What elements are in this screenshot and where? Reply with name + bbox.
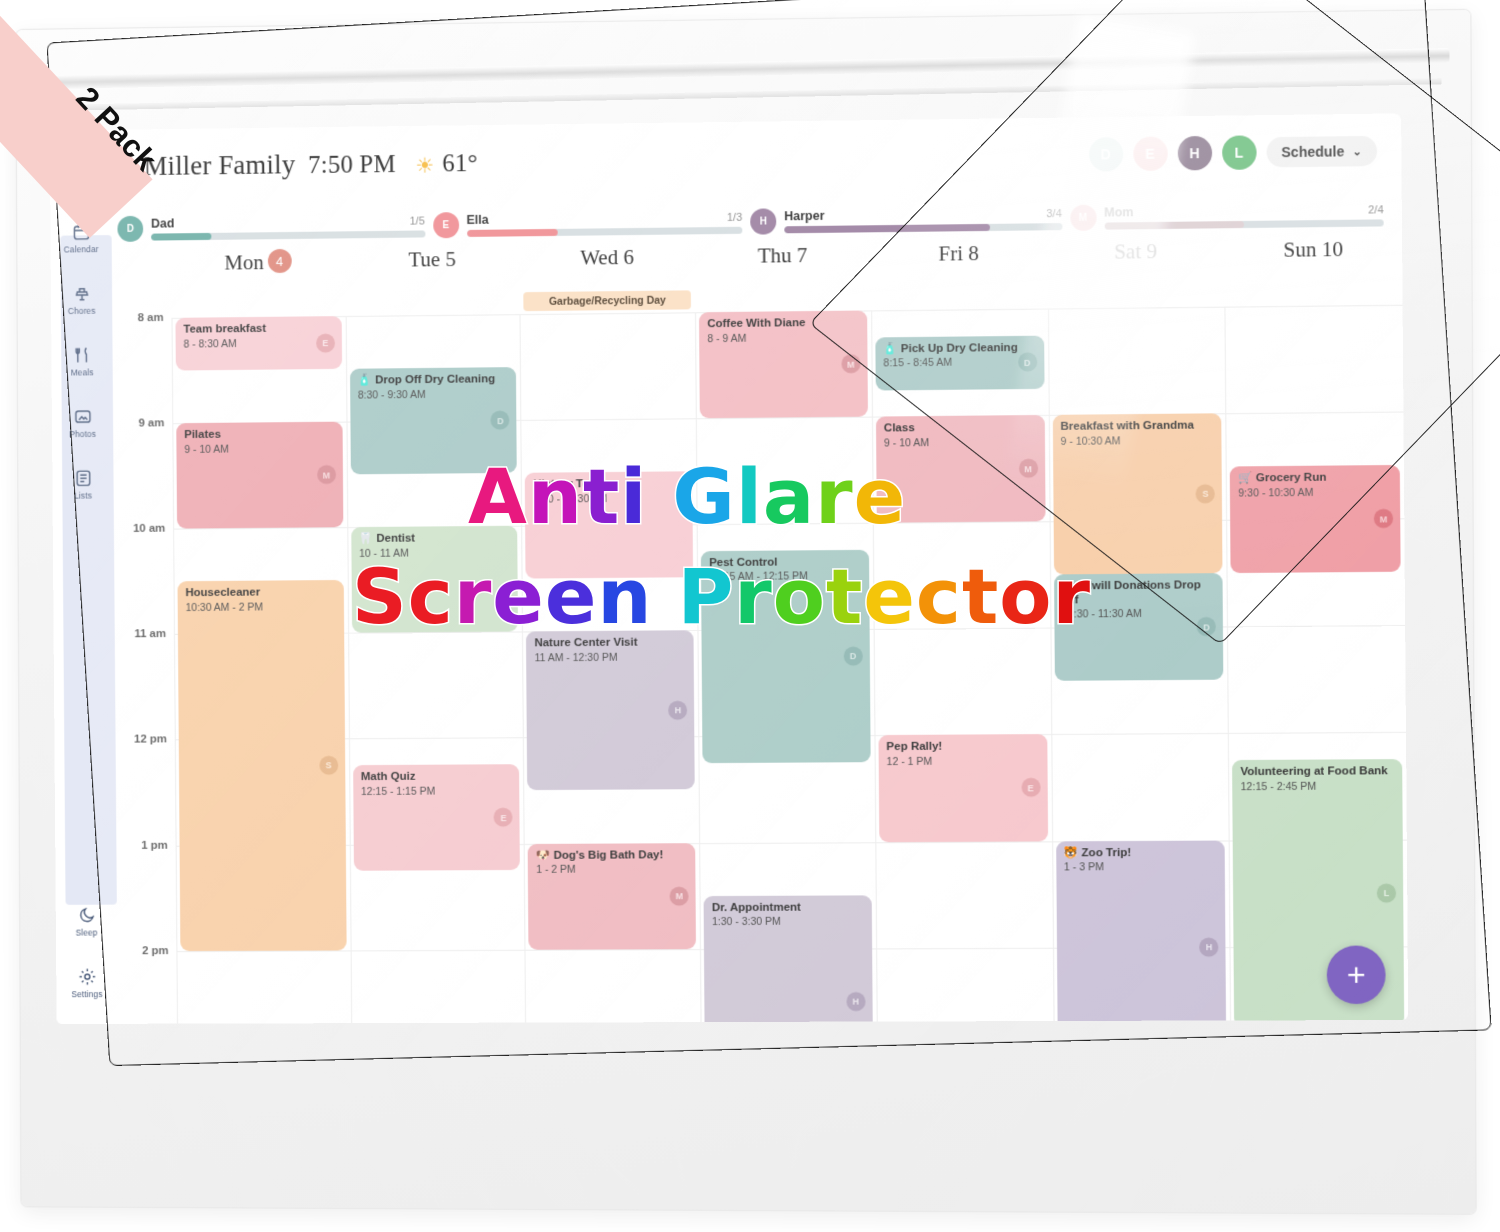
time-label: 12 pm bbox=[134, 734, 167, 746]
event-assignee-avatar: D bbox=[491, 411, 510, 430]
today-badge: 4 bbox=[268, 249, 292, 273]
calendar: Mon4Tue 5Wed 6Thu 7Fri 8Sat 9Sun 10 Garb… bbox=[112, 236, 1409, 1024]
sidebar-item-label: Lists bbox=[74, 491, 92, 501]
event-time: 9 - 10:30 AM bbox=[1061, 434, 1214, 447]
event-title: Volunteering at Food Bank bbox=[1240, 765, 1394, 780]
time-label: 11 am bbox=[134, 628, 166, 640]
event-title: 🐯 Zoo Trip! bbox=[1064, 846, 1217, 860]
sidebar: CalendarChoresMealsPhotosLists SleepSett… bbox=[50, 207, 117, 1024]
time-label: 9 am bbox=[138, 417, 164, 429]
clock: 7:50 PM bbox=[308, 151, 396, 179]
sidebar-item-meals[interactable]: Meals bbox=[51, 330, 113, 392]
page-title: Miller Family7:50 PM☀61° bbox=[144, 147, 478, 182]
day-column[interactable]: Coffee With Diane8 - 9 AMMPest Control10… bbox=[695, 310, 876, 1022]
time-label: 10 am bbox=[133, 523, 165, 535]
member-progress-track bbox=[1104, 219, 1384, 229]
event-time: 10:30 AM - 2 PM bbox=[186, 601, 336, 614]
calendar-event[interactable]: History Test9:30 - 10:30 AM bbox=[525, 471, 693, 578]
member-name: Ella bbox=[466, 213, 488, 227]
calendar-event[interactable]: 🦷 Dentist10 - 11 AM bbox=[351, 526, 518, 633]
chevron-down-icon: ⌄ bbox=[1352, 145, 1361, 158]
event-assignee-avatar: D bbox=[1197, 617, 1216, 636]
day-columns[interactable]: Team breakfast8 - 8:30 AMEPilates9 - 10 … bbox=[171, 305, 1408, 1024]
day-column[interactable]: 🧴 Pick Up Dry Cleaning8:15 - 8:45 AMDCla… bbox=[871, 309, 1053, 1022]
avatar-dad[interactable]: D bbox=[1088, 137, 1123, 172]
family-hub-app: Miller Family7:50 PM☀61° D E H L Schedul… bbox=[50, 113, 1409, 1024]
header-actions: D E H L Schedule ⌄ bbox=[1088, 134, 1377, 172]
member-avatar: H bbox=[750, 208, 776, 234]
schedule-label: Schedule bbox=[1281, 143, 1344, 160]
sidebar-item-chores[interactable]: Chores bbox=[51, 269, 113, 331]
member-progress[interactable]: HHarper3/4 bbox=[750, 205, 1070, 235]
all-day-cell bbox=[171, 292, 345, 318]
calendar-event[interactable]: Math Quiz12:15 - 1:15 PME bbox=[353, 764, 520, 871]
day-header-wed[interactable]: Wed 6 bbox=[519, 244, 695, 290]
day-header-sun[interactable]: Sun 10 bbox=[1224, 236, 1402, 282]
member-progress-track bbox=[467, 227, 743, 237]
event-time: 9 - 10 AM bbox=[184, 442, 334, 455]
event-title: Class bbox=[884, 421, 1037, 436]
event-title: Housecleaner bbox=[185, 586, 335, 601]
chores-icon bbox=[72, 284, 91, 303]
event-time: 10:30 - 11:30 AM bbox=[1062, 608, 1215, 621]
event-time: 8:15 - 8:45 AM bbox=[883, 356, 1036, 370]
day-column[interactable]: 🧴 Drop Off Dry Cleaning8:30 - 9:30 AMD🦷 … bbox=[345, 314, 525, 1023]
member-avatar: E bbox=[433, 212, 459, 238]
sidebar-item-label: Photos bbox=[69, 429, 96, 439]
event-title: Math Quiz bbox=[361, 770, 512, 784]
event-time: 8 - 9 AM bbox=[707, 331, 859, 345]
all-day-event[interactable]: Garbage/Recycling Day bbox=[524, 290, 691, 311]
all-day-cell bbox=[695, 286, 871, 312]
event-time: 9:30 - 10:30 AM bbox=[1238, 486, 1392, 499]
event-assignee-avatar: H bbox=[668, 701, 687, 720]
event-title: Dr. Appointment bbox=[712, 901, 864, 915]
day-column[interactable]: 🛒 Grocery Run9:30 - 10:30 AMMVolunteerin… bbox=[1225, 305, 1409, 1021]
sidebar-item-label: Calendar bbox=[64, 244, 99, 254]
member-avatar: M bbox=[1070, 205, 1096, 231]
all-day-cell bbox=[345, 290, 520, 316]
day-header-thu[interactable]: Thu 7 bbox=[695, 242, 871, 288]
moon-icon bbox=[77, 906, 96, 925]
event-title: Nature Center Visit bbox=[534, 637, 685, 652]
event-time: 11 AM - 12:30 PM bbox=[535, 651, 686, 664]
event-assignee-avatar: M bbox=[1374, 509, 1393, 528]
event-title: 🦷 Dentist bbox=[359, 532, 510, 547]
calendar-event[interactable]: 🛒 Grocery Run9:30 - 10:30 AMM bbox=[1230, 465, 1401, 573]
event-title: Pilates bbox=[184, 428, 334, 443]
sidebar-item-label: Chores bbox=[68, 306, 96, 316]
event-title: 🧴 Pick Up Dry Cleaning bbox=[883, 341, 1036, 356]
time-grid[interactable]: 8 am9 am10 am11 am12 pm1 pm2 pm Team bre… bbox=[112, 305, 1408, 1024]
event-title: 🧴 Drop Off Dry Cleaning bbox=[358, 373, 509, 388]
photos-icon bbox=[73, 407, 92, 426]
meals-icon bbox=[73, 346, 92, 365]
event-time: 1 - 2 PM bbox=[536, 863, 687, 876]
event-time: 12:15 - 1:15 PM bbox=[361, 785, 512, 798]
day-column[interactable]: History Test9:30 - 10:30 AMNature Center… bbox=[520, 312, 701, 1022]
calendar-event[interactable]: Dr. Appointment1:30 - 3:30 PMH bbox=[704, 895, 874, 1024]
day-header-tue[interactable]: Tue 5 bbox=[345, 246, 520, 292]
event-assignee-avatar: M bbox=[670, 886, 689, 905]
calendar-event[interactable]: Pest Control10:15 AM - 12:15 PMD bbox=[701, 550, 871, 764]
all-day-cell bbox=[1225, 281, 1403, 307]
calendar-event[interactable]: Pep Rally!12 - 1 PME bbox=[878, 734, 1047, 841]
calendar-event[interactable]: 🧴 Pick Up Dry Cleaning8:15 - 8:45 AMD bbox=[875, 335, 1044, 390]
tv-screen: Miller Family7:50 PM☀61° D E H L Schedul… bbox=[50, 113, 1409, 1024]
event-assignee-avatar: M bbox=[841, 354, 860, 373]
sidebar-item-settings[interactable]: Settings bbox=[56, 952, 118, 1014]
event-time: 9 - 10 AM bbox=[884, 436, 1037, 449]
event-time: 12:15 - 2:45 PM bbox=[1241, 780, 1395, 793]
member-fraction: 1/5 bbox=[410, 215, 425, 227]
event-time: 1 - 3 PM bbox=[1064, 861, 1217, 874]
calendar-icon bbox=[72, 222, 91, 241]
temperature: 61° bbox=[442, 150, 478, 177]
calendar-event[interactable]: Goodwill Donations Drop Off10:30 - 11:30… bbox=[1054, 573, 1224, 681]
calendar-event[interactable]: 🐯 Zoo Trip!1 - 3 PMH bbox=[1056, 840, 1227, 1024]
calendar-event[interactable]: Pilates9 - 10 AMM bbox=[176, 422, 343, 529]
sidebar-item-lists[interactable]: Lists bbox=[52, 454, 114, 516]
event-time: 1:30 - 3:30 PM bbox=[712, 916, 864, 929]
event-assignee-avatar: D bbox=[1018, 352, 1037, 371]
event-assignee-avatar: E bbox=[316, 333, 335, 352]
sidebar-item-label: Sleep bbox=[75, 928, 97, 938]
avatar-ella[interactable]: E bbox=[1133, 136, 1168, 171]
member-progress-fill bbox=[1104, 221, 1244, 230]
member-progress-track bbox=[151, 230, 425, 240]
sidebar-item-label: Meals bbox=[71, 367, 94, 377]
event-assignee-avatar: E bbox=[494, 808, 513, 827]
all-day-cell bbox=[1047, 283, 1224, 309]
all-day-cell: Garbage/Recycling Day bbox=[520, 288, 695, 314]
event-assignee-avatar: M bbox=[317, 465, 336, 484]
day-column[interactable]: Breakfast with Grandma9 - 10:30 AMSGoodw… bbox=[1048, 307, 1231, 1021]
calendar-event[interactable]: Nature Center Visit11 AM - 12:30 PMH bbox=[526, 631, 694, 791]
event-title: History Test bbox=[533, 478, 684, 493]
event-assignee-avatar: S bbox=[1196, 484, 1215, 503]
sidebar-bottom: SleepSettings bbox=[56, 891, 118, 1014]
avatar-l[interactable]: L bbox=[1222, 135, 1257, 170]
event-title: Team breakfast bbox=[183, 322, 333, 337]
member-progress[interactable]: DDad1/5 bbox=[117, 212, 433, 242]
day-column[interactable]: Team breakfast8 - 8:30 AMEPilates9 - 10 … bbox=[171, 316, 350, 1024]
add-event-button[interactable]: + bbox=[1327, 945, 1386, 1004]
event-title: Pep Rally! bbox=[886, 741, 1039, 756]
event-time: 10:15 AM - 12:15 PM bbox=[709, 570, 861, 583]
event-title: Coffee With Diane bbox=[707, 317, 859, 332]
event-time: 9:30 - 10:30 AM bbox=[533, 492, 684, 505]
event-time: 8:30 - 9:30 AM bbox=[358, 388, 509, 401]
member-name: Harper bbox=[784, 209, 824, 223]
calendar-event[interactable]: Class9 - 10 AMM bbox=[876, 415, 1045, 523]
sun-icon: ☀ bbox=[415, 154, 434, 179]
calendar-event[interactable]: Housecleaner10:30 AM - 2 PMS bbox=[178, 580, 347, 950]
calendar-event[interactable]: 🧴 Drop Off Dry Cleaning8:30 - 9:30 AMD bbox=[350, 367, 517, 474]
calendar-event[interactable]: Breakfast with Grandma9 - 10:30 AMS bbox=[1052, 413, 1222, 574]
event-time: 12 - 1 PM bbox=[887, 755, 1040, 768]
member-progress-fill bbox=[784, 224, 989, 233]
time-label: 2 pm bbox=[142, 945, 169, 957]
lists-icon bbox=[73, 469, 92, 488]
event-assignee-avatar: M bbox=[1018, 459, 1037, 478]
family-name: Miller Family bbox=[144, 149, 296, 181]
calendar-event[interactable]: 🐶 Dog's Big Bath Day!1 - 2 PMM bbox=[528, 843, 696, 950]
event-time: 10 - 11 AM bbox=[359, 547, 510, 560]
schedule-dropdown[interactable]: Schedule ⌄ bbox=[1266, 136, 1377, 168]
event-title: Breakfast with Grandma bbox=[1060, 419, 1213, 434]
event-assignee-avatar: H bbox=[1199, 937, 1218, 956]
event-title: 🐶 Dog's Big Bath Day! bbox=[536, 849, 687, 863]
sidebar-item-label: Settings bbox=[71, 989, 102, 999]
calendar-event[interactable]: Coffee With Diane8 - 9 AMM bbox=[699, 310, 868, 418]
member-progress-fill bbox=[467, 229, 558, 237]
calendar-event[interactable]: Team breakfast8 - 8:30 AME bbox=[175, 316, 341, 370]
time-axis: 8 am9 am10 am11 am12 pm1 pm2 pm bbox=[112, 318, 177, 1024]
day-header-fri[interactable]: Fri 8 bbox=[870, 240, 1047, 286]
member-progress-fill bbox=[151, 233, 211, 241]
gear-icon bbox=[77, 967, 96, 986]
member-progress[interactable]: EElla1/3 bbox=[433, 209, 751, 239]
member-name: Dad bbox=[151, 216, 174, 230]
event-assignee-avatar: L bbox=[1377, 883, 1396, 902]
event-assignee-avatar: H bbox=[846, 992, 865, 1011]
member-avatar: D bbox=[117, 216, 143, 242]
event-assignee-avatar: D bbox=[844, 646, 863, 665]
member-fraction: 1/3 bbox=[727, 212, 742, 224]
time-label: 8 am bbox=[138, 312, 164, 324]
event-title: Pest Control bbox=[709, 556, 861, 571]
all-day-cell bbox=[871, 284, 1048, 310]
day-header-mon[interactable]: Mon4 bbox=[171, 248, 345, 294]
sidebar-item-calendar[interactable]: Calendar bbox=[50, 207, 112, 269]
time-label: 1 pm bbox=[141, 839, 168, 851]
event-time: 8 - 8:30 AM bbox=[184, 337, 334, 350]
sidebar-item-photos[interactable]: Photos bbox=[52, 392, 114, 454]
member-progress-track bbox=[784, 223, 1062, 233]
member-fraction: 3/4 bbox=[1046, 208, 1061, 220]
member-name: Mom bbox=[1104, 205, 1134, 219]
event-assignee-avatar: S bbox=[319, 756, 338, 775]
member-fraction: 2/4 bbox=[1368, 204, 1384, 216]
member-progress[interactable]: MMom2/4 bbox=[1070, 201, 1392, 231]
event-title: 🛒 Grocery Run bbox=[1238, 471, 1392, 486]
product-photo: Miller Family7:50 PM☀61° D E H L Schedul… bbox=[0, 0, 1500, 1232]
day-header-sat[interactable]: Sat 9 bbox=[1047, 238, 1225, 284]
sidebar-item-sleep[interactable]: Sleep bbox=[56, 891, 118, 953]
event-assignee-avatar: E bbox=[1021, 778, 1040, 797]
avatar-harper[interactable]: H bbox=[1177, 136, 1212, 171]
event-title: Goodwill Donations Drop Off bbox=[1062, 579, 1215, 607]
